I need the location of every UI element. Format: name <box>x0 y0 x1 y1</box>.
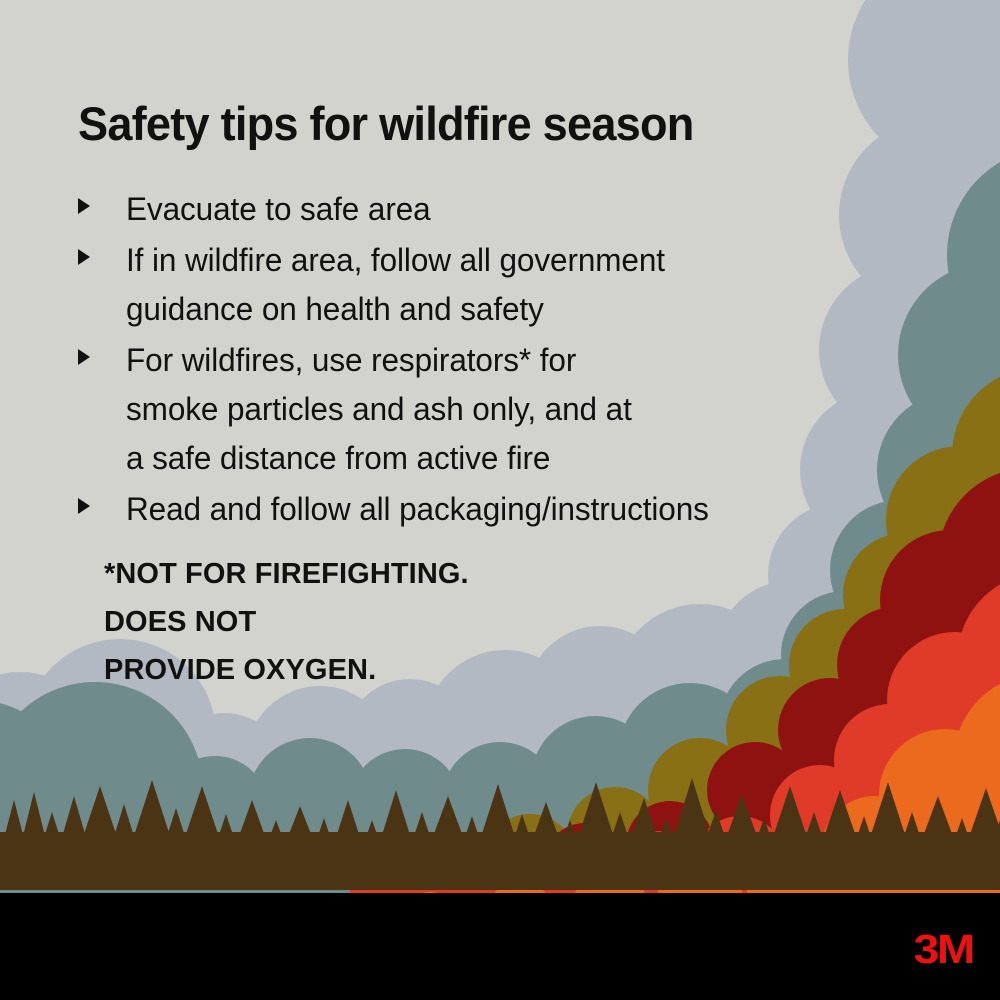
bullet-triangle-icon <box>78 249 90 265</box>
tip-line: Evacuate to safe area <box>126 185 867 234</box>
disclaimer-block: *NOT FOR FIREFIGHTING. DOES NOT PROVIDE … <box>104 550 469 694</box>
bullet-triangle-icon <box>78 198 90 214</box>
3m-logo: 3M <box>914 926 973 973</box>
tip-line: Read and follow all packaging/instructio… <box>126 485 867 534</box>
safety-tips-list: Evacuate to safe area If in wildfire are… <box>78 185 878 536</box>
list-item: For wildfires, use respirators* for smok… <box>78 336 878 483</box>
disclaimer-line: *NOT FOR FIREFIGHTING. <box>104 550 469 598</box>
tip-line: smoke particles and ash only, and at <box>126 385 867 434</box>
tip-line: For wildfires, use respirators* for <box>126 336 867 385</box>
disclaimer-line: PROVIDE OXYGEN. <box>104 646 469 694</box>
tip-line: a safe distance from active fire <box>126 434 867 483</box>
brand-bar <box>0 893 1000 1000</box>
list-item: If in wildfire area, follow all governme… <box>78 236 878 334</box>
list-item: Evacuate to safe area <box>78 185 878 234</box>
disclaimer-line: DOES NOT <box>104 598 469 646</box>
wildfire-safety-poster: Safety tips for wildfire season Evacuate… <box>0 0 1000 1000</box>
list-item: Read and follow all packaging/instructio… <box>78 485 878 534</box>
bullet-triangle-icon <box>78 498 90 514</box>
tip-line: If in wildfire area, follow all governme… <box>126 236 867 285</box>
page-title: Safety tips for wildfire season <box>78 96 694 151</box>
tip-line: guidance on health and safety <box>126 285 867 334</box>
bullet-triangle-icon <box>78 349 90 365</box>
